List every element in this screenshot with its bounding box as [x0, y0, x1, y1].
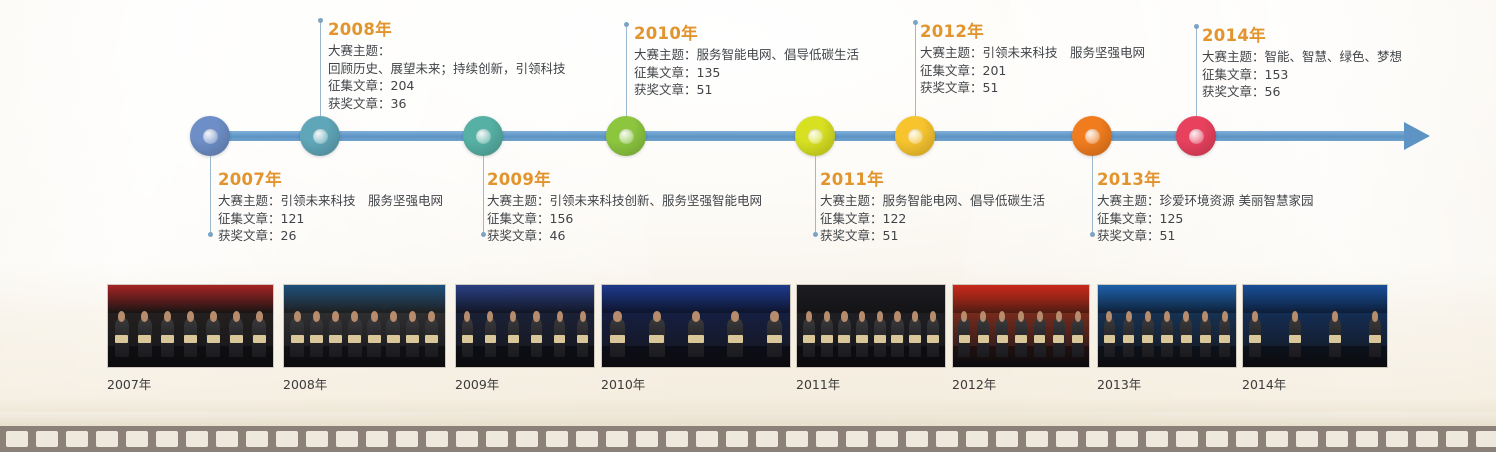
entry-detail: 获奖文章：56	[1202, 83, 1402, 101]
timeline-node-2007[interactable]	[190, 116, 230, 156]
photo-certificate	[767, 335, 782, 343]
photo-person	[1123, 318, 1135, 358]
photo-certificate	[115, 335, 128, 343]
timeline-entry-2010: 2010年大赛主题：服务智能电网、倡导低碳生活征集文章：135获奖文章：51	[634, 24, 859, 99]
photo-certificate	[508, 335, 519, 343]
filmstrip-perforation	[1116, 431, 1138, 447]
photo-certificate	[184, 335, 197, 343]
entry-submitted-count: 征集文章：156	[487, 210, 762, 228]
gallery-item[interactable]: 2010年	[601, 284, 791, 392]
filmstrip-perforation	[606, 431, 628, 447]
photo-person	[386, 318, 400, 358]
filmstrip-perforation	[426, 431, 448, 447]
entry-year: 2013年	[1097, 170, 1313, 190]
filmstrip-perforation	[876, 431, 898, 447]
photo-certificate	[1161, 335, 1172, 343]
filmstrip-perforation	[1176, 431, 1198, 447]
gallery-caption: 2014年	[1242, 378, 1388, 392]
filmstrip-perforation	[66, 431, 88, 447]
entry-submitted-count: 征集文章：153	[1202, 66, 1402, 84]
timeline-node-2010[interactable]	[606, 116, 646, 156]
photo-certificate	[1329, 335, 1341, 343]
filmstrip-perforation	[1146, 431, 1168, 447]
photo-certificate	[728, 335, 743, 343]
entry-submitted-count: 征集文章：201	[920, 62, 1145, 80]
photo-person	[1161, 318, 1173, 358]
photo-certificate	[291, 335, 304, 343]
photo-certificate	[874, 335, 886, 343]
filmstrip-perforation	[906, 431, 928, 447]
gallery-photo[interactable]	[283, 284, 446, 368]
entry-detail: 获奖文章：36	[328, 95, 566, 113]
photo-person	[821, 318, 834, 358]
timeline-node-2014[interactable]	[1176, 116, 1216, 156]
gallery-photo[interactable]	[601, 284, 791, 368]
timeline-entry-2013: 2013年大赛主题：珍爱环境资源 美丽智慧家园征集文章：125获奖文章：51	[1097, 170, 1313, 245]
photo-certificate	[1249, 335, 1261, 343]
filmstrip-perforation	[936, 431, 958, 447]
filmstrip-perforation	[1386, 431, 1408, 447]
gallery-caption: 2011年	[796, 378, 946, 392]
timeline-connector-dot	[1194, 24, 1199, 29]
entry-year: 2010年	[634, 24, 859, 44]
photo-certificate	[1072, 335, 1083, 343]
photo-award-recipients	[290, 306, 438, 357]
filmstrip-perforation	[1476, 431, 1496, 447]
filmstrip-perforation	[456, 431, 478, 447]
photo-person	[1053, 318, 1065, 358]
gallery-item[interactable]: 2012年	[952, 284, 1090, 392]
timeline: 2007年大赛主题：引领未来科技 服务坚强电网征集文章：121获奖文章：2620…	[0, 0, 1496, 270]
timeline-node-2011[interactable]	[795, 116, 835, 156]
filmstrip-perforation	[126, 431, 148, 447]
filmstrip-perforation	[336, 431, 358, 447]
timeline-node-2009[interactable]	[463, 116, 503, 156]
photo-person	[348, 318, 362, 358]
gallery-caption: 2008年	[283, 378, 446, 392]
entry-detail: 获奖文章：51	[634, 81, 859, 99]
timeline-connector	[210, 156, 211, 235]
photo-certificate	[485, 335, 496, 343]
entry-theme: 大赛主题：引领未来科技创新、服务坚强智能电网	[487, 192, 762, 210]
timeline-node-2008[interactable]	[300, 116, 340, 156]
photo-person	[329, 318, 343, 358]
entry-theme: 大赛主题：服务智能电网、倡导低碳生活	[634, 46, 859, 64]
entry-year: 2011年	[820, 170, 1045, 190]
photo-person	[1289, 318, 1301, 358]
filmstrip-perforation	[1356, 431, 1378, 447]
filmstrip-perforation	[1446, 431, 1468, 447]
timeline-connector-dot	[913, 20, 918, 25]
photo-person	[977, 318, 989, 358]
entry-submitted-count: 征集文章：125	[1097, 210, 1313, 228]
filmstrip-perforation	[186, 431, 208, 447]
photo-person	[462, 318, 474, 358]
entry-submitted-count: 征集文章：204	[328, 77, 566, 95]
filmstrip-perforation	[516, 431, 538, 447]
photo-award-recipients	[462, 306, 589, 357]
gallery-item[interactable]: 2007年	[107, 284, 274, 392]
photo-person	[138, 318, 152, 358]
photo-person	[290, 318, 304, 358]
gallery-photo[interactable]	[796, 284, 946, 368]
photo-award-recipients	[115, 306, 267, 357]
photo-certificate	[253, 335, 266, 343]
photo-certificate	[138, 335, 151, 343]
gallery-item[interactable]: 2011年	[796, 284, 946, 392]
photo-person	[909, 318, 922, 358]
photo-certificate	[310, 335, 323, 343]
photo-person	[1104, 318, 1116, 358]
photo-certificate	[1219, 335, 1230, 343]
photo-person	[367, 318, 381, 358]
filmstrip-perforation	[6, 431, 28, 447]
filmstrip-perforation	[756, 431, 778, 447]
entry-theme: 大赛主题：	[328, 42, 566, 60]
gallery-photo[interactable]	[107, 284, 274, 368]
photo-certificate	[688, 335, 703, 343]
gallery-caption: 2012年	[952, 378, 1090, 392]
filmstrip-perforation	[816, 431, 838, 447]
timeline-entry-2014: 2014年大赛主题：智能、智慧、绿色、梦想征集文章：153获奖文章：56	[1202, 26, 1402, 101]
photo-certificate	[577, 335, 588, 343]
filmstrip-perforation	[696, 431, 718, 447]
photo-person	[874, 318, 887, 358]
entry-detail: 获奖文章：46	[487, 227, 762, 245]
photo-award-recipients	[1249, 306, 1382, 357]
entry-detail: 获奖文章：51	[920, 79, 1145, 97]
entry-detail: 获奖文章：51	[820, 227, 1045, 245]
photo-person	[577, 318, 589, 358]
photo-person	[891, 318, 904, 358]
timeline-connector	[1092, 156, 1093, 235]
photo-person	[996, 318, 1008, 358]
photo-certificate	[891, 335, 903, 343]
filmstrip-perforation	[1416, 431, 1438, 447]
filmstrip-perforation	[726, 431, 748, 447]
filmstrip-perforation	[216, 431, 238, 447]
photo-certificate	[161, 335, 174, 343]
filmstrip-perforation	[966, 431, 988, 447]
filmstrip-perforation	[846, 431, 868, 447]
gallery-photo[interactable]	[952, 284, 1090, 368]
filmstrip-perforation	[96, 431, 118, 447]
photo-person	[1369, 318, 1381, 358]
photo-person	[184, 318, 198, 358]
entry-theme: 大赛主题：引领未来科技 服务坚强电网	[920, 44, 1145, 62]
entry-detail: 回顾历史、展望未来；持续创新，引领科技	[328, 60, 566, 78]
photo-person	[229, 318, 243, 358]
photo-person	[485, 318, 497, 358]
photo-person	[727, 318, 743, 358]
timeline-node-2013[interactable]	[1072, 116, 1112, 156]
photo-certificate	[368, 335, 381, 343]
photo-person	[310, 318, 324, 358]
photo-certificate	[1053, 335, 1064, 343]
photo-award-recipients	[1104, 306, 1231, 357]
filmstrip-perforation	[786, 431, 808, 447]
right-arrow-icon	[1404, 122, 1430, 150]
photo-certificate	[230, 335, 243, 343]
photo-person	[161, 318, 175, 358]
photo-certificate	[462, 335, 473, 343]
photo-person	[115, 318, 129, 358]
filmstrip-perforation	[636, 431, 658, 447]
gallery-caption: 2010年	[601, 378, 791, 392]
photo-person	[1072, 318, 1084, 358]
gallery-photo[interactable]	[455, 284, 595, 368]
filmstrip-footer	[0, 426, 1496, 452]
photo-person	[1034, 318, 1046, 358]
timeline-connector	[1196, 26, 1197, 116]
filmstrip-perforation	[156, 431, 178, 447]
photo-person	[649, 318, 665, 358]
photo-certificate	[1181, 335, 1192, 343]
filmstrip-perforation	[1086, 431, 1108, 447]
photo-certificate	[348, 335, 361, 343]
gallery-caption: 2009年	[455, 378, 595, 392]
timeline-connector-dot	[481, 232, 486, 237]
photo-person	[508, 318, 520, 358]
timeline-connector	[320, 20, 321, 116]
photo-certificate	[927, 335, 939, 343]
photo-person	[927, 318, 940, 358]
timeline-connector	[915, 22, 916, 116]
photo-certificate	[821, 335, 833, 343]
photo-certificate	[329, 335, 342, 343]
photo-certificate	[406, 335, 419, 343]
gallery-caption: 2007年	[107, 378, 274, 392]
photo-person	[856, 318, 869, 358]
photo-certificate	[1200, 335, 1211, 343]
gallery-item[interactable]: 2014年	[1242, 284, 1388, 392]
filmstrip-perforation	[666, 431, 688, 447]
filmstrip-perforation	[1296, 431, 1318, 447]
entry-year: 2012年	[920, 22, 1145, 42]
timeline-connector-dot	[813, 232, 818, 237]
photo-person	[1015, 318, 1027, 358]
filmstrip-perforation	[246, 431, 268, 447]
photo-certificate	[959, 335, 970, 343]
entry-year: 2008年	[328, 20, 566, 40]
photo-certificate	[387, 335, 400, 343]
filmstrip-perforation	[546, 431, 568, 447]
gallery-item[interactable]: 2013年	[1097, 284, 1237, 392]
photo-certificate	[978, 335, 989, 343]
photo-person	[1200, 318, 1212, 358]
timeline-connector	[815, 156, 816, 235]
photo-certificate	[1289, 335, 1301, 343]
photo-person	[767, 318, 783, 358]
photo-gallery: 2007年2008年2009年2010年2011年2012年2013年2014年	[0, 284, 1496, 400]
entry-submitted-count: 征集文章：122	[820, 210, 1045, 228]
timeline-entry-2009: 2009年大赛主题：引领未来科技创新、服务坚强智能电网征集文章：156获奖文章：…	[487, 170, 762, 245]
photo-award-recipients	[803, 306, 939, 357]
entry-submitted-count: 征集文章：135	[634, 64, 859, 82]
photo-person	[803, 318, 816, 358]
timeline-connector-dot	[208, 232, 213, 237]
filmstrip-perforation	[1206, 431, 1228, 447]
infographic-canvas: 2007年大赛主题：引领未来科技 服务坚强电网征集文章：121获奖文章：2620…	[0, 0, 1496, 452]
filmstrip-perforation	[306, 431, 328, 447]
photo-certificate	[531, 335, 542, 343]
photo-person	[610, 318, 626, 358]
filmstrip-perforation	[996, 431, 1018, 447]
photo-person	[554, 318, 566, 358]
photo-person	[958, 318, 970, 358]
timeline-entry-2008: 2008年大赛主题：回顾历史、展望未来；持续创新，引领科技征集文章：204获奖文…	[328, 20, 566, 112]
photo-person	[406, 318, 420, 358]
entry-year: 2009年	[487, 170, 762, 190]
filmstrip-perforation	[36, 431, 58, 447]
entry-year: 2014年	[1202, 26, 1402, 46]
photo-certificate	[425, 335, 438, 343]
filmstrip-perforation	[366, 431, 388, 447]
filmstrip-perforation	[276, 431, 298, 447]
photo-person	[1329, 318, 1341, 358]
filmstrip-perforation	[1236, 431, 1258, 447]
photo-certificate	[1015, 335, 1026, 343]
filmstrip-perforation	[576, 431, 598, 447]
photo-certificate	[856, 335, 868, 343]
photo-certificate	[1104, 335, 1115, 343]
timeline-connector-dot	[624, 22, 629, 27]
entry-year: 2007年	[218, 170, 443, 190]
photo-award-recipients	[610, 306, 783, 357]
entry-theme: 大赛主题：引领未来科技 服务坚强电网	[218, 192, 443, 210]
photo-certificate	[1369, 335, 1381, 343]
timeline-connector	[483, 156, 484, 235]
timeline-connector-dot	[1090, 232, 1095, 237]
entry-theme: 大赛主题：服务智能电网、倡导低碳生活	[820, 192, 1045, 210]
gallery-item[interactable]: 2008年	[283, 284, 446, 392]
gallery-caption: 2013年	[1097, 378, 1237, 392]
photo-certificate	[1142, 335, 1153, 343]
entry-theme: 大赛主题：珍爱环境资源 美丽智慧家园	[1097, 192, 1313, 210]
photo-certificate	[997, 335, 1008, 343]
filmstrip-perforation	[1266, 431, 1288, 447]
photo-person	[252, 318, 266, 358]
gallery-photo[interactable]	[1097, 284, 1237, 368]
photo-certificate	[838, 335, 850, 343]
timeline-entry-2012: 2012年大赛主题：引领未来科技 服务坚强电网征集文章：201获奖文章：51	[920, 22, 1145, 97]
gallery-item[interactable]: 2009年	[455, 284, 595, 392]
photo-person	[1142, 318, 1154, 358]
filmstrip-perforation	[396, 431, 418, 447]
photo-person	[206, 318, 220, 358]
photo-certificate	[1123, 335, 1134, 343]
photo-person	[1180, 318, 1192, 358]
filmstrip-perforation	[1056, 431, 1078, 447]
footer-fade	[0, 398, 1496, 426]
gallery-photo[interactable]	[1242, 284, 1388, 368]
timeline-entry-2011: 2011年大赛主题：服务智能电网、倡导低碳生活征集文章：122获奖文章：51	[820, 170, 1045, 245]
photo-person	[688, 318, 704, 358]
timeline-connector-dot	[318, 18, 323, 23]
filmstrip-perforation	[1026, 431, 1048, 447]
photo-certificate	[1034, 335, 1045, 343]
filmstrip-perforation	[486, 431, 508, 447]
photo-person	[531, 318, 543, 358]
photo-person	[1219, 318, 1231, 358]
timeline-connector	[626, 24, 627, 116]
entry-submitted-count: 征集文章：121	[218, 210, 443, 228]
entry-theme: 大赛主题：智能、智慧、绿色、梦想	[1202, 48, 1402, 66]
photo-certificate	[610, 335, 625, 343]
photo-certificate	[803, 335, 815, 343]
photo-award-recipients	[958, 306, 1083, 357]
photo-certificate	[909, 335, 921, 343]
photo-person	[425, 318, 439, 358]
entry-detail: 获奖文章：51	[1097, 227, 1313, 245]
photo-certificate	[207, 335, 220, 343]
filmstrip-perforation	[1326, 431, 1348, 447]
photo-person	[838, 318, 851, 358]
photo-certificate	[649, 335, 664, 343]
timeline-entry-2007: 2007年大赛主题：引领未来科技 服务坚强电网征集文章：121获奖文章：26	[218, 170, 443, 245]
photo-certificate	[554, 335, 565, 343]
entry-detail: 获奖文章：26	[218, 227, 443, 245]
photo-person	[1249, 318, 1261, 358]
timeline-node-2012[interactable]	[895, 116, 935, 156]
